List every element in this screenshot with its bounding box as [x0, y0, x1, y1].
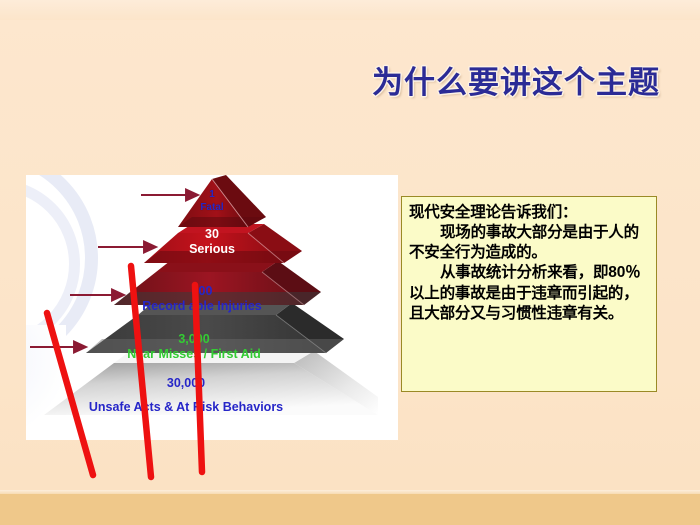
pyramid-level-nearmiss-label: 3,000 Near Misses / First Aid — [127, 333, 261, 361]
callout-textbox: 现代安全理论告诉我们： 现场的事故大部分是由于人的不安全行为造成的。 从事故统计… — [401, 196, 657, 392]
pyramid-level-recordable-count: 300 — [142, 285, 261, 298]
callout-line-3: 从事故统计分析来看，即80％以上的事故是由于违章而引起的，且大部分又与习惯性违章… — [409, 263, 652, 323]
callout-line-2: 现场的事故大部分是由于人的不安全行为造成的。 — [409, 223, 652, 263]
slide-canvas: 为什么要讲这个主题 — [0, 0, 700, 525]
pyramid-level-serious-text: Serious — [189, 243, 235, 256]
pyramid-level-fatal-text: Fatal — [200, 203, 223, 214]
pyramid-level-fatal-label: 1 Fatal — [200, 190, 223, 213]
pyramid-image-panel: 1 Fatal 30 Serious 300 Record able Injur… — [26, 175, 398, 440]
pyramid-level-fatal-count: 1 — [200, 190, 223, 201]
pyramid-level-unsafeacts-text: Unsafe Acts & At Risk Behaviors — [89, 401, 283, 414]
pyramid-level-recordable-text: Record able Injuries — [142, 300, 261, 313]
slide-background-highlight — [0, 0, 700, 20]
bottom-accent-bar — [0, 494, 700, 525]
callout-line-1: 现代安全理论告诉我们： — [409, 203, 652, 223]
slide-title: 为什么要讲这个主题 — [372, 57, 660, 102]
pyramid-level-unsafeacts-count: 30,000 — [89, 377, 283, 390]
pyramid-level-nearmiss-count: 3,000 — [127, 333, 261, 346]
pyramid-level-unsafeacts-label: 30,000 Unsafe Acts & At Risk Behaviors — [89, 377, 283, 414]
pyramid-level-serious-count: 30 — [189, 228, 235, 241]
pyramid-level-nearmiss-text: Near Misses / First Aid — [127, 348, 261, 361]
pyramid-level-recordable-label: 300 Record able Injuries — [142, 285, 261, 313]
pyramid-level-serious-label: 30 Serious — [189, 228, 235, 256]
